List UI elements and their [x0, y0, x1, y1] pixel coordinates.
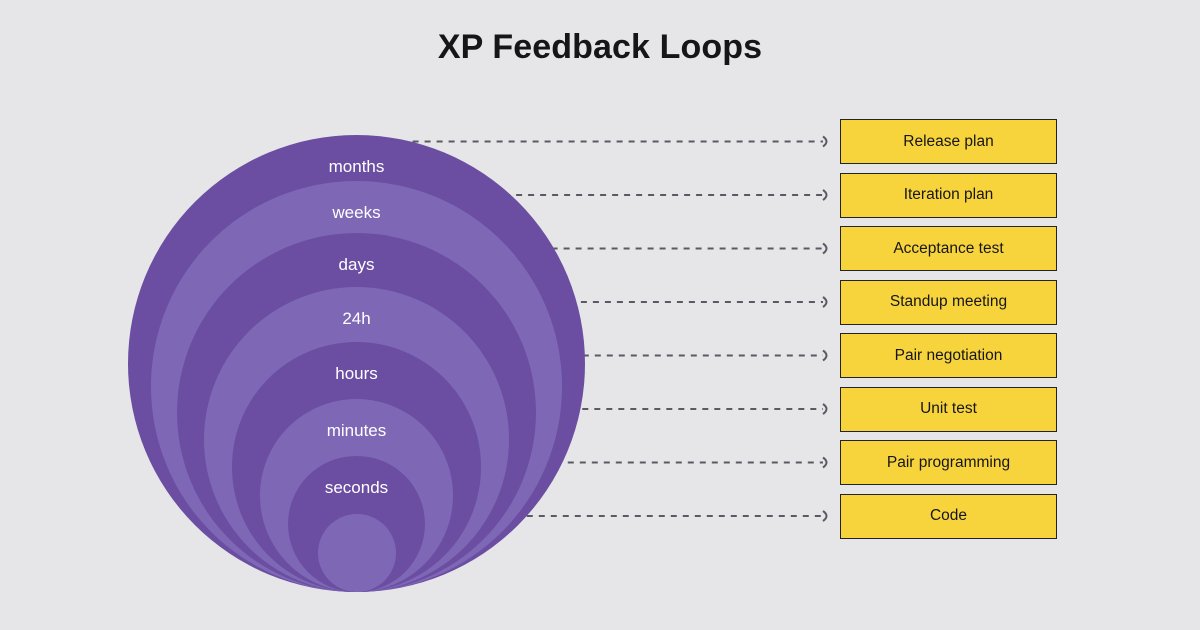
practice-box-acceptance-test[interactable]: Acceptance test — [840, 226, 1057, 271]
timescale-label-months: months — [329, 157, 385, 177]
diagram-canvas: XP Feedback Loops monthsweeksdays24hhour… — [0, 0, 1200, 630]
timescale-label-weeks: weeks — [332, 203, 380, 223]
timescale-label-seconds: seconds — [325, 478, 388, 498]
timescale-label-days: days — [339, 255, 375, 275]
practice-box-unit-test[interactable]: Unit test — [840, 387, 1057, 432]
practice-box-pair-negotiation[interactable]: Pair negotiation — [840, 333, 1057, 378]
practice-box-pair-programming[interactable]: Pair programming — [840, 440, 1057, 485]
practice-box-code[interactable]: Code — [840, 494, 1057, 539]
feedback-ring-code — [318, 514, 396, 592]
practice-box-iteration-plan[interactable]: Iteration plan — [840, 173, 1057, 218]
practice-box-release-plan[interactable]: Release plan — [840, 119, 1057, 164]
practice-box-list: Release planIteration planAcceptance tes… — [840, 119, 1057, 539]
timescale-label-minutes: minutes — [327, 421, 387, 441]
timescale-label-24h: 24h — [342, 309, 370, 329]
practice-box-standup-meeting[interactable]: Standup meeting — [840, 280, 1057, 325]
timescale-label-hours: hours — [335, 364, 378, 384]
